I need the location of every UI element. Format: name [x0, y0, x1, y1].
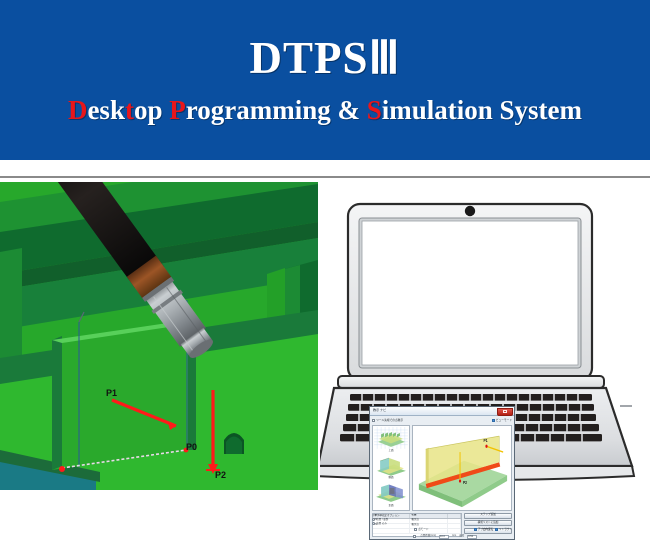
- subtitle-highlight-letter: D: [68, 95, 88, 125]
- point-option-item[interactable]: 位置 のみ: [372, 522, 410, 526]
- subtitle-text: imulation System: [382, 95, 582, 125]
- approach-checkbox[interactable]: アプローチ: [474, 528, 491, 532]
- thumb-side-view[interactable]: [374, 455, 408, 477]
- dialog-top-options: ツール先端での点教示 ビューモード: [372, 418, 512, 424]
- subtitle-highlight-letter: t: [125, 95, 134, 125]
- scene-label-p0: P0: [186, 442, 197, 452]
- add-to-list-button[interactable]: 構成リストに追加: [464, 520, 512, 526]
- close-icon[interactable]: [497, 408, 513, 416]
- horizontal-divider: [0, 176, 650, 178]
- checkbox-square-icon[interactable]: [413, 535, 416, 538]
- dialog-title-bar: 教示 ナビ: [370, 407, 514, 416]
- dialog-3d-viewport[interactable]: P1 P2: [412, 425, 512, 511]
- point-mode-label: 点モード: [418, 528, 428, 531]
- retract-label: リトラクト: [499, 528, 512, 531]
- thumb-front-view[interactable]: [374, 482, 408, 504]
- thumb-front-caption: 正面: [388, 505, 393, 508]
- checkbox-checked-icon: [495, 528, 498, 531]
- subtitle-text: rogramming &: [186, 95, 367, 125]
- weld-scene-image: P1 P0 P2: [0, 182, 318, 490]
- checkbox-square-icon: [372, 419, 375, 422]
- subtitle-text: esk: [87, 95, 125, 125]
- radio-selected-icon: [372, 518, 375, 521]
- interval-label: 点間距離(mm): [420, 535, 436, 538]
- speed-label: 速度: [459, 535, 464, 538]
- speed-input[interactable]: 0.50: [467, 535, 477, 539]
- thumb-top-view[interactable]: [374, 427, 408, 449]
- point-option-group: ポイント指定オプション 位置 / 姿勢 位置 のみ: [372, 515, 410, 526]
- viewport-label-p1: P1: [484, 437, 489, 443]
- page-title: DTPSⅢ: [249, 36, 400, 81]
- dialog-footer-options: 点モード アプローチ リトラクト: [372, 528, 512, 532]
- view-thumbnail-panel[interactable]: 上面 側面: [372, 425, 410, 511]
- dtps-teach-navi-dialog[interactable]: 教示 ナビ ツール先端での点教示 ビューモード: [369, 406, 515, 540]
- checkbox-checked-icon: [492, 419, 495, 422]
- poster-root: DTPSⅢ Desktop Programming & Simulation S…: [0, 0, 650, 490]
- viewport-label-p2: P2: [463, 479, 468, 485]
- point-option-label: 位置 のみ: [376, 522, 387, 525]
- header-banner: DTPSⅢ Desktop Programming & Simulation S…: [0, 0, 650, 160]
- dialog-footer-fields: 点間距離(mm) 10.0 mm 速度 0.50: [372, 535, 512, 539]
- dialog-title-text: 教示 ナビ: [373, 408, 386, 412]
- thumb-top-caption: 上面: [388, 450, 393, 453]
- view-mode-label: ビューモード: [496, 419, 512, 422]
- point-mode-checkbox[interactable]: 点モード: [414, 528, 429, 532]
- scene-label-p2: P2: [215, 470, 226, 480]
- dialog-action-buttons: ステップ追加 構成リストに追加 方向反転: [464, 513, 512, 537]
- subtitle-highlight-letter: S: [367, 95, 382, 125]
- radio-icon: [372, 522, 375, 525]
- point-option-label: 位置 / 姿勢: [376, 518, 388, 521]
- retract-checkbox[interactable]: リトラクト: [495, 528, 512, 532]
- approach-label: アプローチ: [478, 528, 491, 531]
- subtitle-text: op: [134, 95, 169, 125]
- tool-tip-teach-label: ツール先端での点教示: [376, 419, 403, 422]
- lower-section: P1 P0 P2: [0, 180, 650, 490]
- page-subtitle: Desktop Programming & Simulation System: [68, 97, 582, 124]
- tool-tip-teach-checkbox[interactable]: ツール先端での点教示: [372, 419, 403, 423]
- subtitle-highlight-letter: P: [169, 95, 186, 125]
- add-step-button[interactable]: ステップ追加: [464, 513, 512, 519]
- dialog-main-columns: 上面 側面: [372, 425, 512, 511]
- view-mode-checkbox[interactable]: ビューモード: [492, 419, 512, 423]
- dialog-body: ツール先端での点教示 ビューモード: [370, 416, 514, 540]
- checkbox-checked-icon: [474, 528, 477, 531]
- checkbox-square-icon: [414, 528, 417, 531]
- thumb-side-caption: 側面: [388, 477, 393, 480]
- scene-label-p1: P1: [106, 388, 117, 398]
- unit-label: mm: [452, 535, 456, 538]
- interval-input[interactable]: 10.0: [439, 535, 449, 539]
- webcam-dot: [465, 206, 475, 216]
